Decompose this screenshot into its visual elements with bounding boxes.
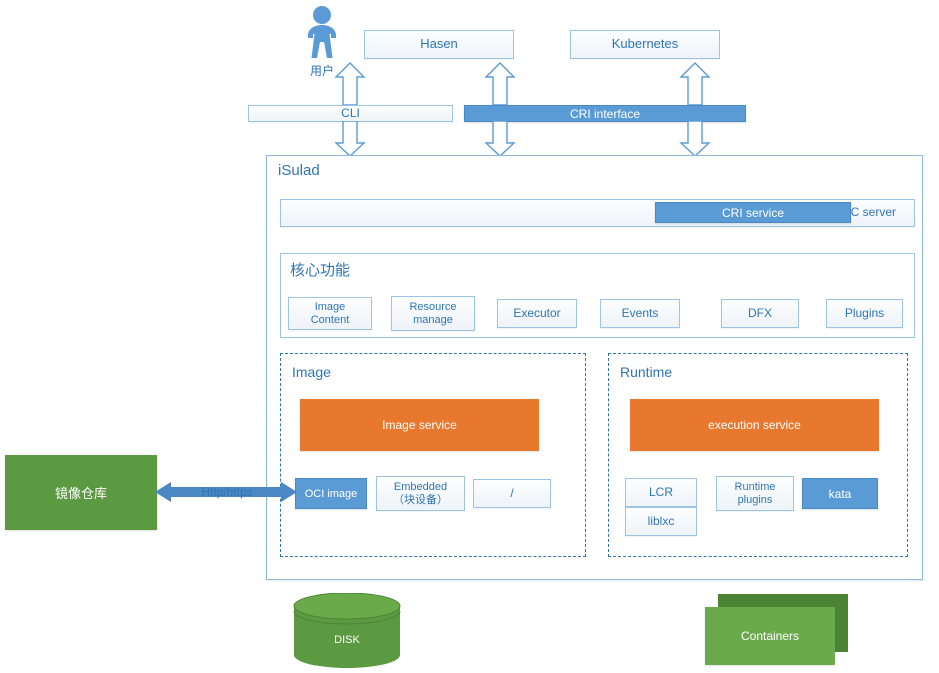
arrow-down-cri-to-isulad-left	[483, 121, 517, 157]
hasen-box[interactable]: Hasen	[364, 30, 514, 59]
arrow-down-cli-to-isulad	[333, 121, 367, 157]
runtime-plugins-label-line1: Runtime	[735, 481, 776, 494]
kata-label: kata	[829, 487, 852, 501]
cri-interface-bar[interactable]: CRI interface	[464, 105, 746, 122]
core-module-image-content[interactable]: Image Content	[288, 297, 372, 330]
arrow-up-cri-to-hasen	[483, 62, 517, 106]
embedded-box[interactable]: Embedded （块设备）	[376, 476, 465, 511]
runtime-plugins-box[interactable]: Runtime plugins	[716, 476, 794, 511]
liblxc-box[interactable]: liblxc	[625, 507, 697, 536]
embedded-label-line2: （块设备）	[393, 494, 448, 507]
arrow-up-cli-to-user	[333, 62, 367, 106]
image-registry-box[interactable]: 镜像仓库	[5, 455, 157, 530]
kata-box[interactable]: kata	[802, 478, 878, 509]
lcr-box[interactable]: LCR	[625, 478, 697, 507]
core-module-events[interactable]: Events	[600, 299, 680, 328]
core-module-resource-manage[interactable]: Resource manage	[391, 296, 475, 331]
arrow-up-cri-to-kubernetes	[678, 62, 712, 106]
isulad-title: iSulad	[278, 162, 320, 179]
runtime-plugins-label-line2: plugins	[738, 494, 773, 507]
containers-label: Containers	[741, 629, 799, 643]
image-backend-other-box[interactable]: /	[473, 479, 551, 508]
embedded-label-line1: Embedded	[394, 481, 447, 494]
core-module-plugins[interactable]: Plugins	[826, 299, 903, 328]
core-module-label: Events	[622, 307, 659, 321]
core-module-label-line2: manage	[413, 314, 453, 327]
user-figure	[297, 4, 347, 60]
hasen-label: Hasen	[420, 37, 458, 52]
disk-cylinder	[292, 593, 402, 668]
cli-bar[interactable]: CLI	[248, 105, 453, 122]
image-service-label: Image service	[382, 418, 457, 432]
registry-protocol-label: Http/https	[186, 484, 268, 500]
cri-service-box[interactable]: CRI service	[655, 202, 851, 223]
core-module-label: Plugins	[845, 307, 884, 321]
disk-icon	[292, 593, 402, 668]
core-functions-panel	[280, 253, 915, 338]
runtime-section-title: Runtime	[620, 364, 672, 380]
core-module-label: Executor	[513, 307, 560, 321]
arrow-down-cri-to-isulad-right	[678, 121, 712, 157]
image-section-title: Image	[292, 364, 331, 380]
containers-box-front[interactable]: Containers	[705, 607, 835, 665]
core-module-label-line1: Resource	[409, 301, 456, 314]
cri-service-label: CRI service	[722, 206, 784, 220]
lcr-label: LCR	[649, 486, 673, 500]
core-module-label-line2: Content	[311, 314, 350, 327]
oci-image-box[interactable]: OCI image	[295, 478, 367, 509]
cli-label: CLI	[341, 107, 360, 121]
disk-label: DISK	[292, 632, 402, 648]
core-module-dfx[interactable]: DFX	[721, 299, 799, 328]
liblxc-label: liblxc	[648, 515, 675, 529]
image-registry-label: 镜像仓库	[55, 483, 107, 502]
kubernetes-box[interactable]: Kubernetes	[570, 30, 720, 59]
kubernetes-label: Kubernetes	[612, 37, 679, 52]
execution-service-box[interactable]: execution service	[630, 399, 879, 451]
image-service-box[interactable]: Image service	[300, 399, 539, 451]
oci-image-label: OCI image	[305, 488, 358, 500]
image-backend-other-label: /	[510, 487, 513, 501]
person-icon	[297, 4, 347, 60]
core-module-executor[interactable]: Executor	[497, 299, 577, 328]
image-section-panel	[280, 353, 586, 557]
cri-interface-label: CRI interface	[570, 107, 640, 121]
core-module-label: DFX	[748, 307, 772, 321]
core-functions-title: 核心功能	[290, 259, 350, 280]
core-module-label-line1: Image	[315, 301, 346, 314]
execution-service-label: execution service	[708, 418, 801, 432]
